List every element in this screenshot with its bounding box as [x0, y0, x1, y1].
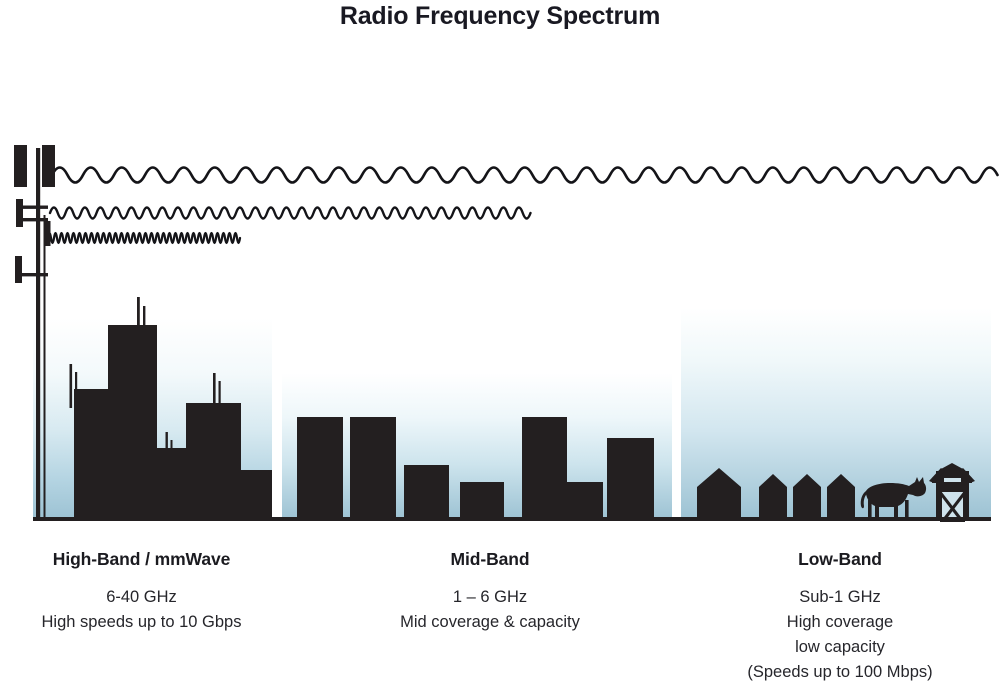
caption-title-low-band: Low-Band: [680, 549, 1000, 570]
radio-waves: [48, 168, 998, 244]
skyscraper-2: [74, 389, 108, 521]
ground-line: [33, 517, 991, 521]
midband-building-1: [297, 417, 343, 521]
skyscraper-spire-tall-a: [70, 364, 73, 408]
caption-mid-band: Mid-Band 1 – 6 GHz Mid coverage & capaci…: [330, 549, 650, 635]
mid-band-wave: [50, 208, 531, 219]
skyscraper-spire-tall-b: [137, 297, 140, 327]
midband-building-2: [350, 417, 396, 521]
midband-building-3: [404, 465, 449, 521]
high-band-wave: [48, 233, 240, 243]
midband-building-6: [567, 482, 603, 521]
tower-mast-main: [36, 148, 40, 521]
low-band-wave: [52, 168, 998, 183]
tower-antenna-panel-small: [15, 256, 22, 283]
skyscraper-right: [186, 403, 241, 521]
skyscraper-low-wide: [157, 448, 186, 521]
tower-mast-secondary: [44, 215, 46, 521]
caption-line: low capacity: [680, 635, 1000, 660]
midband-building-4: [460, 482, 504, 521]
tower-antenna-panel-medium-right: [45, 221, 51, 246]
caption-lines-mid-band: 1 – 6 GHz Mid coverage & capacity: [330, 585, 650, 635]
tower-antenna-panel-large-right: [42, 145, 55, 187]
caption-line: (Speeds up to 100 Mbps): [680, 660, 1000, 685]
skyscraper-tallest: [108, 325, 157, 521]
midband-building-7: [607, 438, 654, 521]
caption-line: Sub-1 GHz: [680, 585, 1000, 610]
caption-title-high-band: High-Band / mmWave: [0, 549, 283, 570]
skyscraper-spire-tall-d: [213, 373, 216, 406]
skyscraper-spire-short-c: [171, 440, 173, 451]
caption-line: 6-40 GHz: [0, 585, 283, 610]
caption-line: 1 – 6 GHz: [330, 585, 650, 610]
caption-line: Mid coverage & capacity: [330, 610, 650, 635]
skyscraper-spire-tall-c: [166, 432, 168, 450]
caption-line: High speeds up to 10 Gbps: [0, 610, 283, 635]
skyscraper-right-filler: [241, 470, 272, 521]
tower-antenna-panel-medium-left: [16, 199, 23, 227]
infographic-root: Radio Frequency Spectrum: [0, 0, 1000, 700]
caption-line: High coverage: [680, 610, 1000, 635]
caption-high-band: High-Band / mmWave 6-40 GHz High speeds …: [0, 549, 283, 635]
tower-antenna-panel-large-left: [14, 145, 27, 187]
caption-title-mid-band: Mid-Band: [330, 549, 650, 570]
midband-building-5: [522, 417, 567, 521]
caption-lines-low-band: Sub-1 GHz High coverage low capacity (Sp…: [680, 585, 1000, 685]
caption-lines-high-band: 6-40 GHz High speeds up to 10 Gbps: [0, 585, 283, 635]
caption-low-band: Low-Band Sub-1 GHz High coverage low cap…: [680, 549, 1000, 685]
skyscraper-spire-short-b: [143, 306, 145, 327]
